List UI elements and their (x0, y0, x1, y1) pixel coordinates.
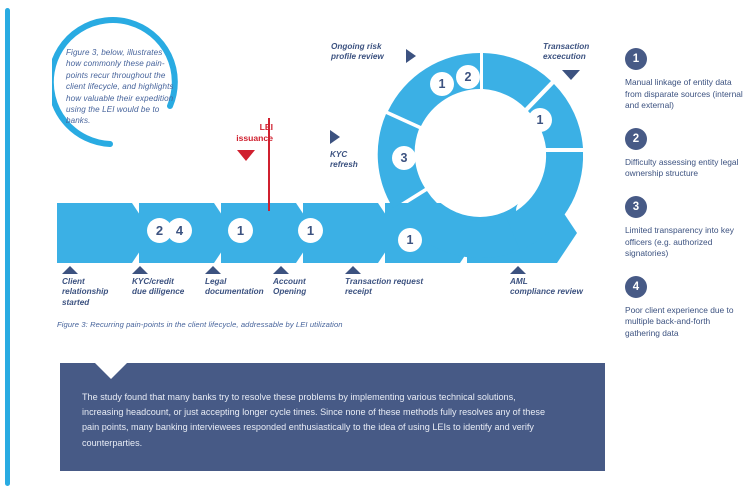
pain-point-text: Manual linkage of entity data from dispa… (625, 77, 745, 112)
annotation-lei-issuance-label: LEI issuance (215, 122, 273, 143)
stage-marker-triangle-icon (132, 266, 148, 274)
pain-point-text: Limited transparency into key officers (… (625, 225, 745, 260)
stage-aml-compliance-review: AML compliance review (510, 266, 605, 298)
pain-point-number: 3 (625, 196, 647, 218)
stage-marker-triangle-icon (62, 266, 78, 274)
band-marker-1: 4 (167, 218, 192, 243)
stage-label: AML compliance review (510, 277, 605, 298)
annotation-ongoing-risk: Ongoing risk profile review (331, 42, 384, 63)
pain-point-item: 1 Manual linkage of entity data from dis… (625, 48, 745, 112)
stage-account-opening: Account Opening (273, 266, 343, 298)
stage-transaction-request-receipt: Transaction request receipt (345, 266, 445, 298)
lei-issuance-arrow-icon (237, 150, 255, 161)
spiral-marker-4: 1 (398, 228, 422, 252)
spiral-marker-1: 2 (456, 65, 480, 89)
stage-marker-triangle-icon (345, 266, 361, 274)
spiral-marker-2: 1 (528, 108, 552, 132)
stage-kyc-credit-due-diligence: KYC/credit due diligence (132, 266, 207, 298)
pain-points-list: 1 Manual linkage of entity data from dis… (625, 48, 745, 356)
lei-issuance-pointer-line (268, 118, 270, 211)
stage-label: Legal documentation (205, 277, 283, 298)
summary-callout-text: The study found that many banks try to r… (82, 390, 547, 451)
stage-client-relationship-started: Client relationship started (62, 266, 132, 308)
stage-marker-triangle-icon (205, 266, 221, 274)
left-accent-bar (5, 8, 10, 486)
transaction-execution-arrow-icon (562, 70, 580, 80)
pain-point-text: Poor client experience due to multiple b… (625, 305, 745, 340)
annotation-lei-issuance: LEI issuance (215, 122, 273, 143)
pain-point-item: 3 Limited transparency into key officers… (625, 196, 745, 260)
stage-legal-documentation: Legal documentation (205, 266, 283, 298)
infographic-canvas: Figure 3, below, illustrates how commonl… (0, 0, 750, 494)
pain-point-number: 4 (625, 276, 647, 298)
stage-marker-triangle-icon (273, 266, 289, 274)
stage-marker-triangle-icon (510, 266, 526, 274)
ongoing-risk-arrow-icon (406, 49, 416, 63)
annotation-transaction-execution-label: Transaction excecution (543, 42, 589, 63)
pain-point-item: 2 Difficulty assessing entity legal owne… (625, 128, 745, 180)
pain-point-number: 1 (625, 48, 647, 70)
pain-point-text: Difficulty assessing entity legal owners… (625, 157, 745, 180)
band-marker-3: 1 (298, 218, 323, 243)
annotation-transaction-execution: Transaction excecution (543, 42, 589, 63)
annotation-kyc-refresh: KYC refresh (330, 150, 358, 171)
stage-label: KYC/credit due diligence (132, 277, 207, 298)
stage-label: Account Opening (273, 277, 343, 298)
stage-label: Transaction request receipt (345, 277, 445, 298)
intro-text: Figure 3, below, illustrates how commonl… (66, 47, 178, 127)
pain-point-item: 4 Poor client experience due to multiple… (625, 276, 745, 340)
figure-caption: Figure 3: Recurring pain-points in the c… (57, 320, 343, 329)
pain-point-number: 2 (625, 128, 647, 150)
spiral-marker-0: 1 (430, 72, 454, 96)
annotation-kyc-refresh-label: KYC refresh (330, 150, 358, 171)
stage-label: Client relationship started (62, 277, 132, 308)
callout-notch-icon (95, 363, 127, 379)
kyc-refresh-arrow-icon (330, 130, 340, 144)
band-marker-2: 1 (228, 218, 253, 243)
spiral-marker-3: 3 (392, 146, 416, 170)
annotation-ongoing-risk-label: Ongoing risk profile review (331, 42, 384, 63)
